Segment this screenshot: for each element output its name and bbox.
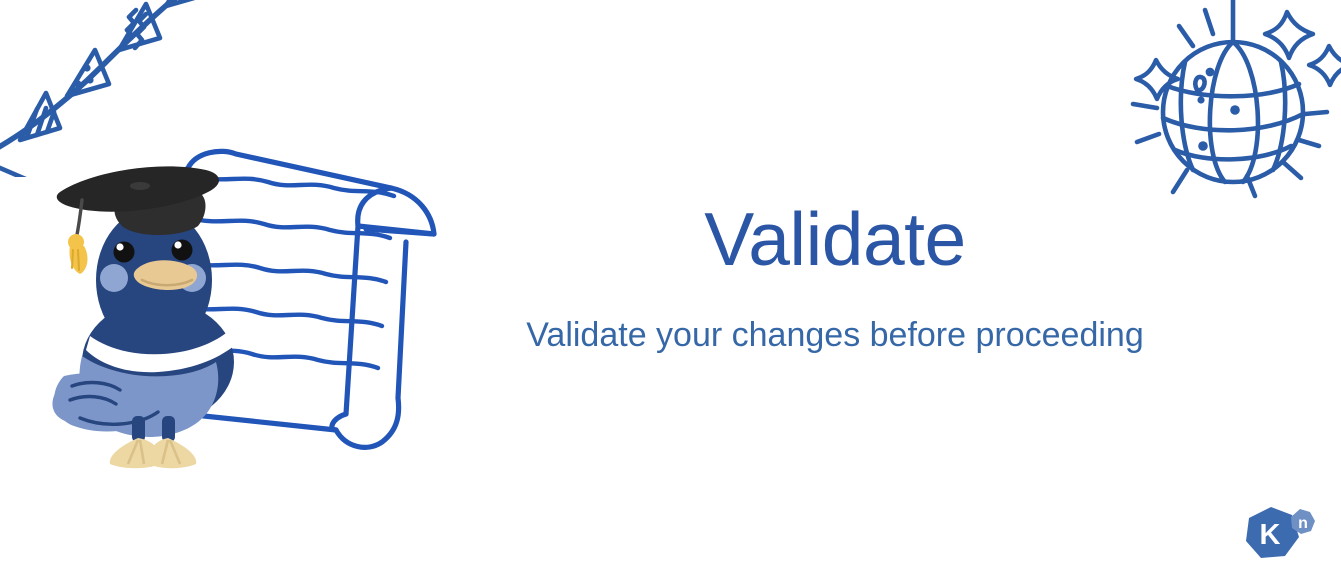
bunting-flag-zigzag [119,4,160,50]
sparkle-star-group [1136,12,1341,99]
graduate-bird [52,166,234,468]
mascot-illustration [46,130,476,480]
slide-canvas: Validate Validate your changes before pr… [0,0,1341,585]
text-block: Validate Validate your changes before pr… [470,200,1200,356]
page-title: Validate [470,200,1200,279]
logo-letter-k: K [1260,519,1281,551]
kubernetes-native-logo[interactable]: K n [1237,501,1323,571]
sparkle-ray-group [1133,10,1327,196]
logo-letter-n: n [1298,515,1308,532]
page-subtitle: Validate your changes before proceeding [470,315,1200,356]
bunting-flag-dots [67,50,109,96]
disco-ball-decoration [1115,0,1341,229]
bunting-flag-stripes-1 [0,162,28,177]
bunting-flag-stripes-3 [166,0,208,6]
